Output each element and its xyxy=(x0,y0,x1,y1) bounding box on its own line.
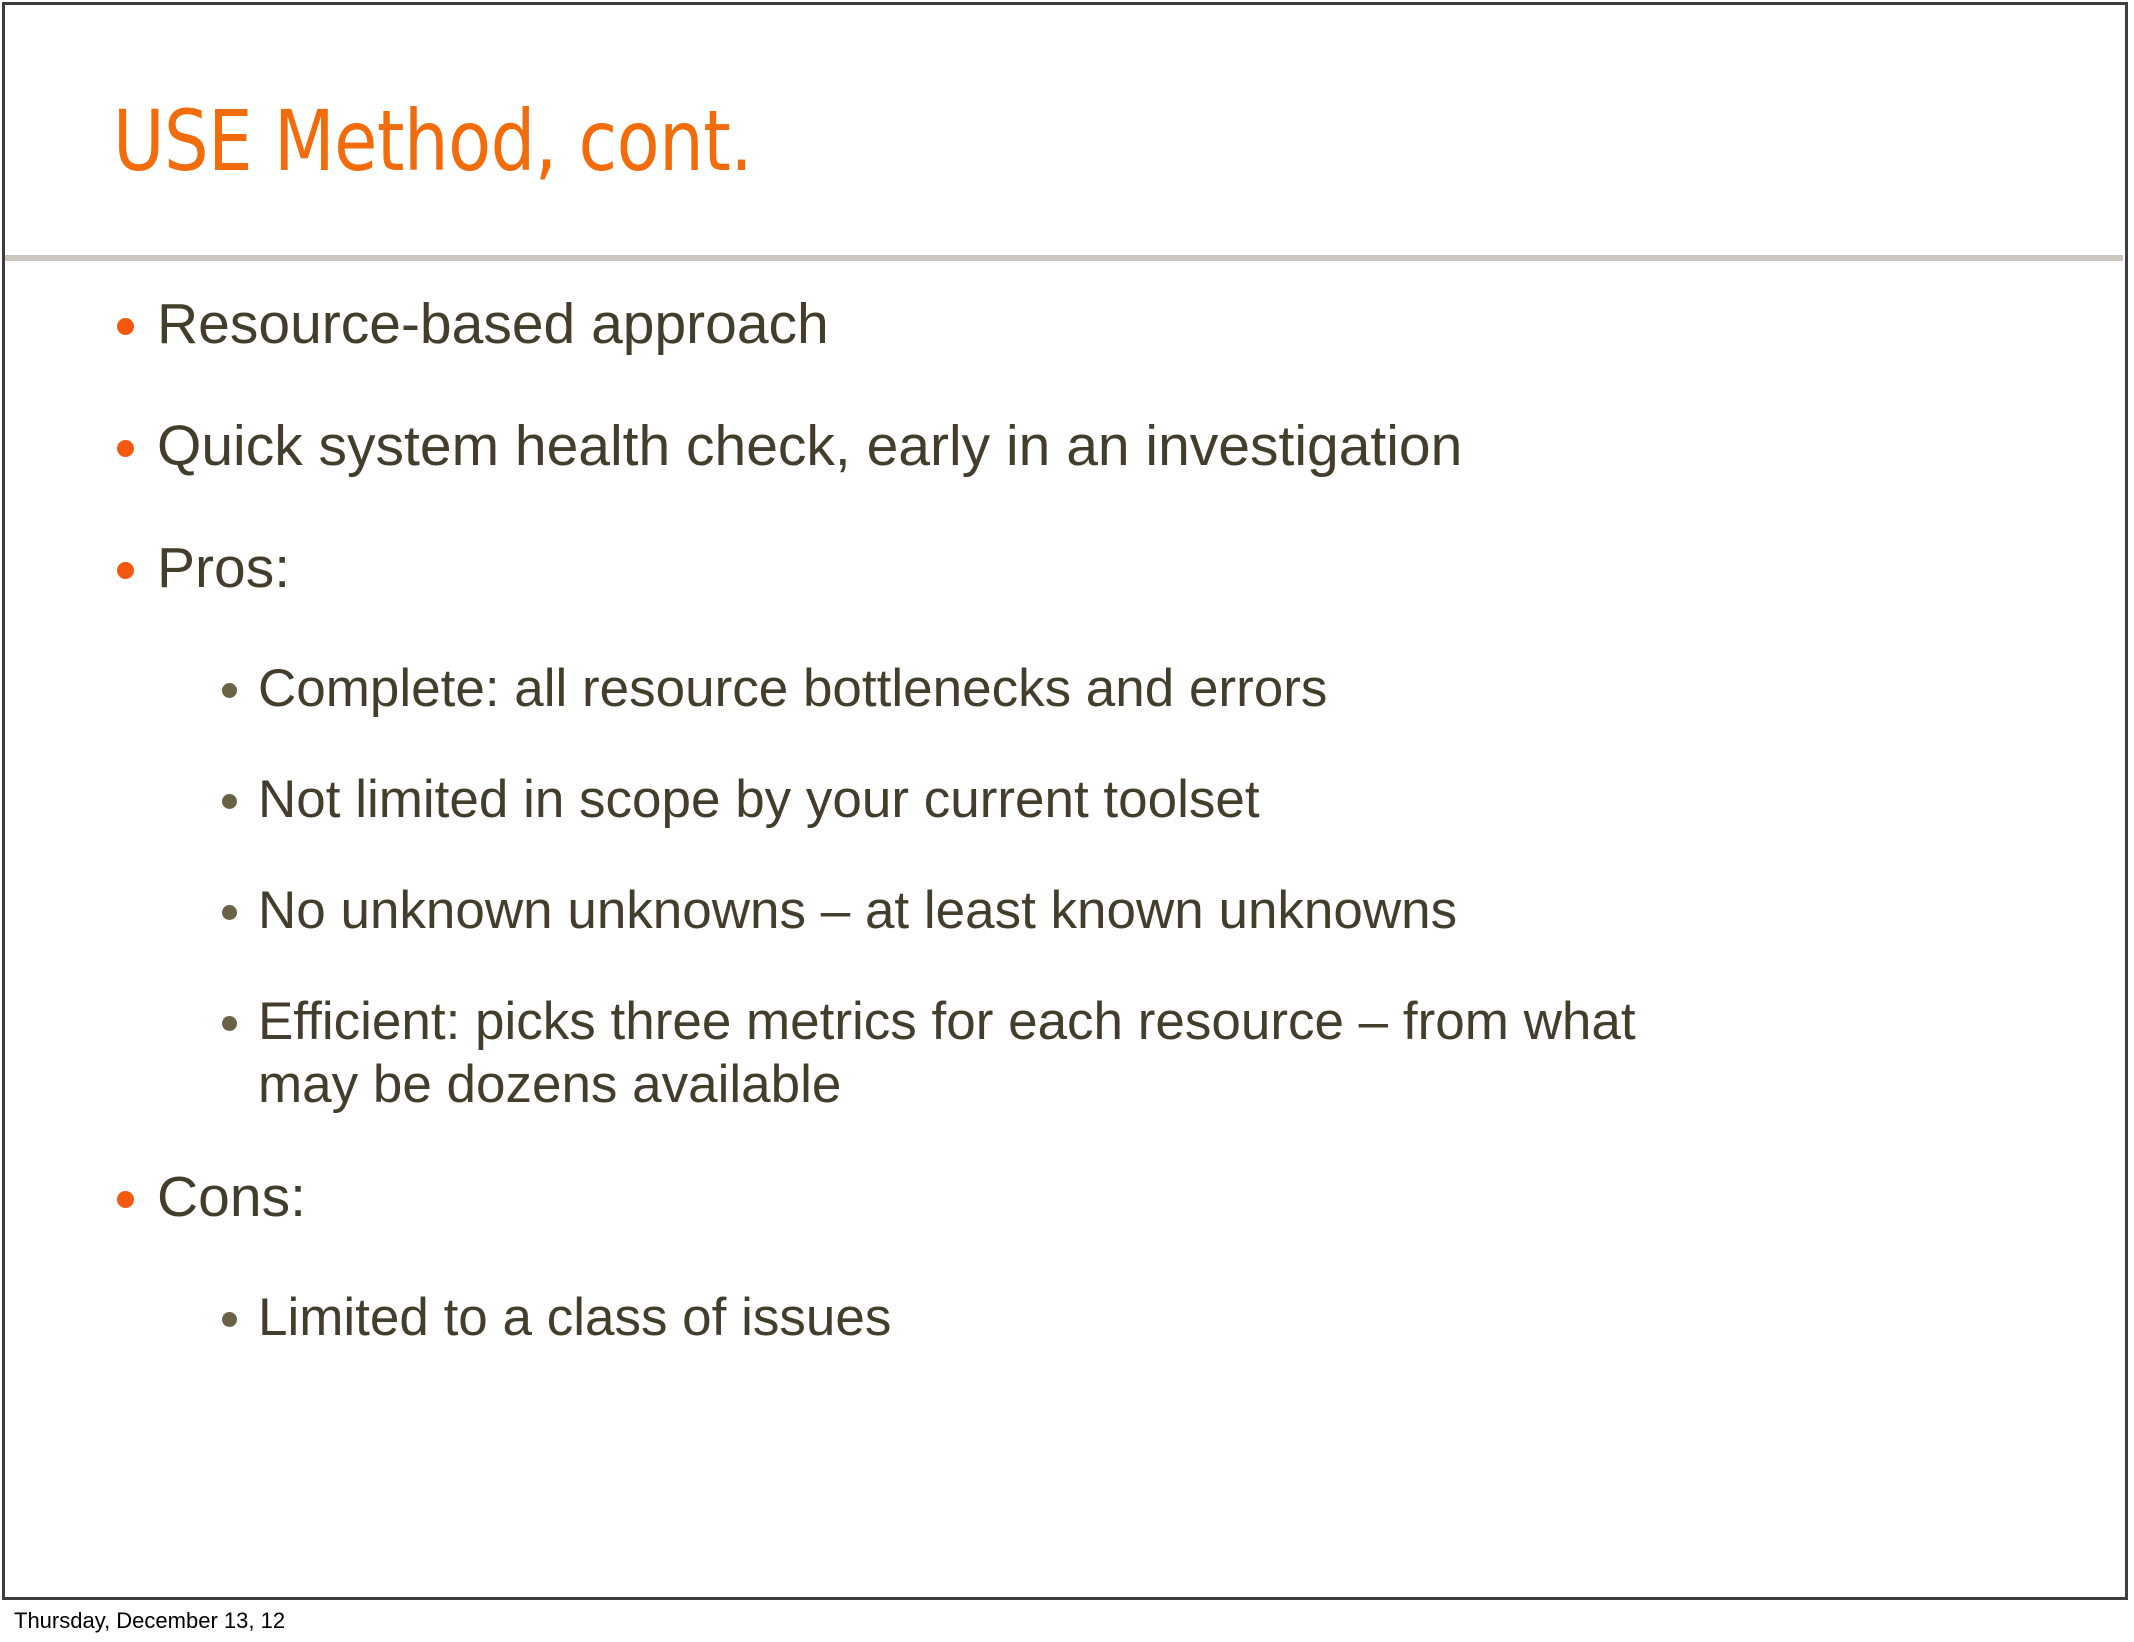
bullet-dot-icon xyxy=(117,1191,134,1208)
bullet-item-level-2: No unknown unknowns – at least known unk… xyxy=(5,879,2125,942)
bullet-text: Resource-based approach xyxy=(157,291,2125,357)
bullet-dot-icon xyxy=(117,318,134,335)
bullet-text: Complete: all resource bottlenecks and e… xyxy=(258,657,1738,720)
bullet-text: Limited to a class of issues xyxy=(258,1286,1738,1349)
bullet-item-level-1: Quick system health check, early in an i… xyxy=(5,413,2125,479)
bullet-text: Quick system health check, early in an i… xyxy=(157,413,2125,479)
title-divider xyxy=(5,255,2123,261)
bullet-dot-icon xyxy=(222,683,237,698)
bullet-item-level-2: Not limited in scope by your current too… xyxy=(5,768,2125,831)
bullet-dot-icon xyxy=(222,1016,237,1031)
bullet-dot-icon xyxy=(222,1312,237,1327)
bullet-item-level-2: Complete: all resource bottlenecks and e… xyxy=(5,657,2125,720)
slide-frame: USE Method, cont. Resource-based approac… xyxy=(2,2,2128,1600)
bullet-text: Cons: xyxy=(157,1164,2125,1230)
bullet-item-level-1: Pros: xyxy=(5,535,2125,601)
slide-title-area: USE Method, cont. xyxy=(5,5,2125,255)
bullet-dot-icon xyxy=(117,562,134,579)
bullet-item-level-2: Limited to a class of issues xyxy=(5,1286,2125,1349)
bullet-text: Efficient: picks three metrics for each … xyxy=(258,990,1738,1116)
slide-body: Resource-based approachQuick system heal… xyxy=(5,291,2125,1397)
bullet-dot-icon xyxy=(222,794,237,809)
footer-date: Thursday, December 13, 12 xyxy=(14,1606,285,1636)
bullet-text: No unknown unknowns – at least known unk… xyxy=(258,879,1738,942)
bullet-item-level-2: Efficient: picks three metrics for each … xyxy=(5,990,2125,1116)
bullet-item-level-1: Cons: xyxy=(5,1164,2125,1230)
page-title: USE Method, cont. xyxy=(113,93,752,189)
bullet-text: Pros: xyxy=(157,535,2125,601)
bullet-text: Not limited in scope by your current too… xyxy=(258,768,1738,831)
bullet-item-level-1: Resource-based approach xyxy=(5,291,2125,357)
bullet-dot-icon xyxy=(117,440,134,457)
bullet-dot-icon xyxy=(222,905,237,920)
